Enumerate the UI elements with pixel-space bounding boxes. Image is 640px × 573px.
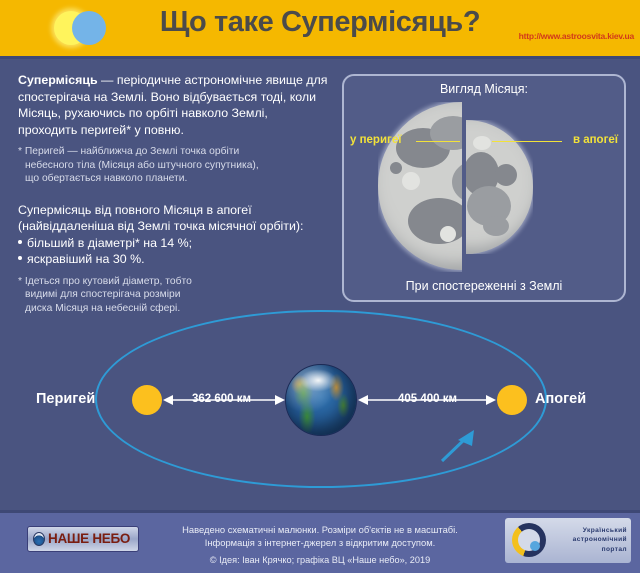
orbit-label-apogee: Апогей	[535, 391, 586, 407]
brand-logo[interactable]: НАШЕ НЕБО	[27, 526, 139, 552]
site-url[interactable]: http://www.astroosvita.kiev.ua	[519, 31, 634, 41]
crater-patch	[390, 162, 402, 174]
mare-patch	[483, 216, 509, 236]
credit-copyright: © Ідея: Іван Крячко; графіка ВЦ «Наше не…	[160, 555, 480, 565]
header-bar: Що таке Супермісяць? http://www.astroosv…	[0, 0, 640, 56]
bullet-dot-icon	[18, 240, 22, 244]
list-item: більший в діаметрі* на 14 %;	[18, 235, 330, 252]
crater-patch	[402, 172, 420, 190]
text-column: Супермісяць — періодичне астрономічне яв…	[18, 72, 330, 315]
bullet-1-label: більший в діаметрі* на 14 %;	[27, 236, 192, 250]
portal-ring-icon	[512, 523, 546, 557]
footnote-perigee-line3: що обертається навколо планети.	[18, 172, 330, 185]
perigee-leader-line	[416, 141, 460, 142]
portal-center-dot	[530, 541, 540, 551]
portal-ring-inner	[518, 529, 540, 551]
supermoon-term: Супермісяць	[18, 73, 98, 87]
footer-credits: Наведено схематичні малюнки. Розміри об'…	[160, 524, 480, 565]
moon-label-apogee: в апогеї	[573, 134, 618, 146]
moon-label-perigee: у перигеї	[350, 134, 401, 146]
footnote-diameter-line1: * Ідеться про кутовий діаметр, тобто	[18, 276, 192, 287]
comparison-block: Супермісяць від повного Місяця в апогеї …	[18, 202, 330, 268]
infographic-poster: Що таке Супермісяць? http://www.astroosv…	[0, 0, 640, 573]
footnote-perigee: * Перигей — найближча до Землі точка орб…	[18, 145, 330, 185]
portal-logo[interactable]: Український астрономічний портал	[505, 518, 631, 563]
apogee-distance-label: 405 400 км	[398, 393, 457, 405]
portal-logo-text: Український астрономічний портал	[551, 526, 627, 554]
footnote-perigee-line2: небесного тіла (Місяця або штучного супу…	[18, 159, 330, 172]
moon-comparison-stage: у перигеї в апогеї	[344, 98, 624, 276]
crater-patch	[440, 226, 456, 242]
orbit-label-perigee: Перигей	[36, 391, 95, 407]
orbit-direction-arrow-icon	[440, 428, 480, 464]
earth-globe-icon	[285, 364, 357, 436]
portal-line-1: Український	[551, 526, 627, 535]
brand-logo-label: НАШЕ НЕБО	[48, 531, 130, 546]
crater-patch	[495, 164, 517, 186]
apogee-moon-marker	[497, 385, 527, 415]
perigee-moon-marker	[132, 385, 162, 415]
moon-perigee-half	[378, 102, 462, 272]
moon-panel-caption: При спостереженні з Землі	[344, 279, 624, 293]
list-item: яскравіший на 30 %.	[18, 251, 330, 268]
bullet-dot-icon	[18, 256, 22, 260]
intro-paragraph: Супермісяць — періодичне астрономічне яв…	[18, 72, 330, 138]
moon-perigee-disc	[378, 102, 462, 270]
moon-panel-title: Вигляд Місяця:	[344, 82, 624, 96]
comparison-paragraph: Супермісяць від повного Місяця в апогеї …	[18, 202, 330, 235]
portal-line-3: портал	[551, 545, 627, 554]
credit-line-1: Наведено схематичні малюнки. Розміри об'…	[160, 524, 480, 537]
moon-comparison-panel: Вигляд Місяця:	[342, 74, 626, 302]
header-divider	[0, 56, 640, 59]
apogee-leader-line	[492, 141, 562, 142]
crater-patch	[473, 136, 491, 150]
mare-patch	[452, 160, 462, 204]
bullet-2-label: яскравіший на 30 %.	[27, 252, 145, 266]
telescope-icon	[33, 532, 45, 546]
perigee-distance-label: 362 600 км	[192, 393, 251, 405]
credit-line-2: Інформація з інтернет-джерел з відкритим…	[160, 537, 480, 550]
portal-line-2: астрономічний	[551, 535, 627, 544]
footnote-perigee-line1: * Перигей — найближча до Землі точка орб…	[18, 146, 239, 157]
